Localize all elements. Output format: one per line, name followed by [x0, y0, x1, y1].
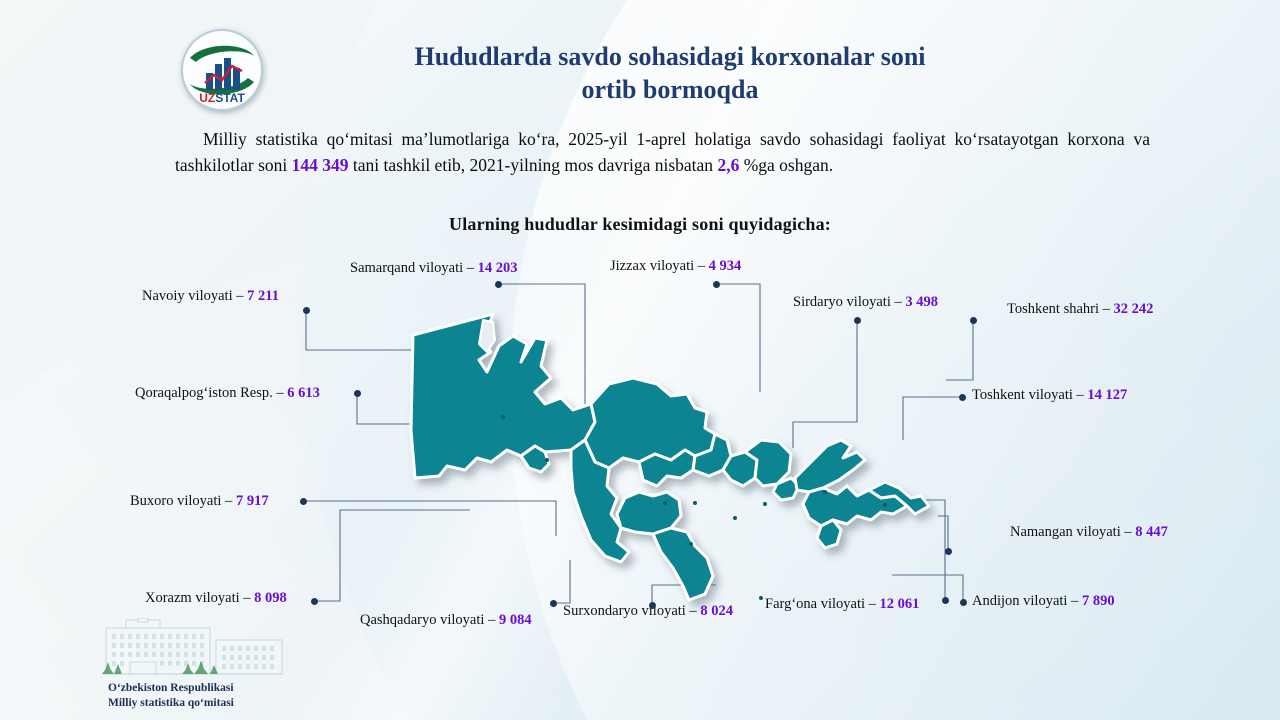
callout-sirdaryo-dot	[854, 317, 861, 324]
callout-sirdaryo-dash: –	[895, 294, 902, 310]
callout-samarqand-dash: –	[467, 260, 474, 276]
callout-navoiy-value: 7 211	[247, 288, 279, 304]
callout-toshkent-shahri-value: 32 242	[1114, 301, 1154, 317]
callout-toshkent-viloyati-dot	[959, 394, 966, 401]
callout-toshkent-viloyati: Toshkent viloyati – 14 127	[972, 387, 1127, 404]
statistics-committee-building-illustration	[96, 618, 326, 688]
callout-toshkent-shahri-dot	[970, 317, 977, 324]
infographic-canvas: UZSTAT Hududlarda savdo sohasidagi korxo…	[0, 0, 1280, 720]
callout-navoiy-label: Navoiy viloyati	[142, 288, 233, 304]
callout-qashqadaryo-label: Qashqadaryo viloyati	[360, 612, 484, 628]
callout-jizzax-label: Jizzax viloyati	[610, 258, 694, 274]
callout-andijon-value: 7 890	[1082, 593, 1115, 609]
callout-samarqand-value: 14 203	[478, 260, 518, 276]
callout-fargona-dash: –	[869, 596, 876, 612]
callout-jizzax-dash: –	[698, 258, 705, 274]
callout-xorazm-dot	[311, 598, 318, 605]
callout-toshkent-shahri-dash: –	[1103, 301, 1110, 317]
callout-fargona-value: 12 061	[880, 596, 920, 612]
callout-jizzax: Jizzax viloyati – 4 934	[610, 258, 741, 275]
callout-qashqadaryo-dot	[550, 600, 557, 607]
callout-jizzax-dot	[713, 281, 720, 288]
callout-qashqadaryo: Qashqadaryo viloyati – 9 084	[360, 612, 532, 629]
callout-andijon-dot	[960, 599, 967, 606]
region-qoraqalpogiston	[411, 314, 595, 478]
callout-xorazm-value: 8 098	[254, 590, 287, 606]
map-regions-group	[411, 314, 929, 600]
footer-organization-name: O‘zbekiston Respublikasi Milliy statisti…	[108, 681, 348, 711]
callout-qoraqalpogiston-dot	[354, 390, 361, 397]
callout-buxoro-value: 7 917	[236, 493, 269, 509]
footer-line-2: Milliy statistika qo‘mitasi	[108, 696, 348, 711]
callout-jizzax-value: 4 934	[709, 258, 742, 274]
callout-sirdaryo: Sirdaryo viloyati – 3 498	[793, 294, 938, 311]
callout-surxondaryo-dot	[649, 602, 656, 609]
callout-surxondaryo: Surxondaryo viloyati – 8 024	[563, 603, 733, 620]
callout-fargona: Farg‘ona viloyati – 12 061	[765, 596, 919, 613]
callout-toshkent-viloyati-label: Toshkent viloyati	[972, 387, 1073, 403]
callout-navoiy: Navoiy viloyati – 7 211	[142, 288, 279, 305]
callout-sirdaryo-value: 3 498	[905, 294, 938, 310]
callout-xorazm: Xorazm viloyati – 8 098	[145, 590, 287, 607]
callout-buxoro-dash: –	[225, 493, 232, 509]
callout-sirdaryo-label: Sirdaryo viloyati	[793, 294, 891, 310]
callout-namangan-dot	[945, 548, 952, 555]
footer-line-1: O‘zbekiston Respublikasi	[108, 681, 348, 696]
callout-andijon: Andijon viloyati – 7 890	[972, 593, 1115, 610]
callout-toshkent-viloyati-value: 14 127	[1087, 387, 1127, 403]
callout-andijon-dash: –	[1071, 593, 1078, 609]
callout-xorazm-dash: –	[243, 590, 250, 606]
callout-qashqadaryo-value: 9 084	[499, 612, 532, 628]
uzbekistan-region-map	[395, 300, 975, 630]
callout-samarqand-label: Samarqand viloyati	[350, 260, 463, 276]
callout-namangan: Namangan viloyati – 8 447	[1010, 524, 1168, 541]
region-namangan	[795, 440, 865, 492]
callout-toshkent-shahri: Toshkent shahri – 32 242	[1007, 301, 1153, 318]
callout-surxondaryo-label: Surxondaryo viloyati	[563, 603, 686, 619]
callout-samarqand: Samarqand viloyati – 14 203	[350, 260, 518, 277]
callout-navoiy-dot	[303, 307, 310, 314]
callout-surxondaryo-dash: –	[689, 603, 696, 619]
callout-qoraqalpogiston-value: 6 613	[287, 385, 320, 401]
callout-buxoro-dot	[300, 498, 307, 505]
callout-buxoro-label: Buxoro viloyati	[130, 493, 221, 509]
callout-navoiy-dash: –	[236, 288, 243, 304]
callout-qoraqalpogiston: Qoraqalpog‘iston Resp. – 6 613	[135, 385, 320, 402]
callout-xorazm-label: Xorazm viloyati	[145, 590, 240, 606]
callout-samarqand-dot	[495, 281, 502, 288]
callout-qoraqalpogiston-label: Qoraqalpog‘iston Resp.	[135, 385, 273, 401]
callout-buxoro: Buxoro viloyati – 7 917	[130, 493, 269, 510]
callout-qoraqalpogiston-dash: –	[276, 385, 283, 401]
callout-fargona-label: Farg‘ona viloyati	[765, 596, 865, 612]
callout-andijon-label: Andijon viloyati	[972, 593, 1067, 609]
callout-toshkent-viloyati-dash: –	[1077, 387, 1084, 403]
callout-namangan-value: 8 447	[1135, 524, 1168, 540]
callout-toshkent-shahri-label: Toshkent shahri	[1007, 301, 1099, 317]
region-surxondaryo	[653, 528, 713, 600]
callout-namangan-dash: –	[1124, 524, 1131, 540]
region-aral-inset	[479, 320, 495, 352]
callout-surxondaryo-value: 8 024	[700, 603, 733, 619]
callout-fargona-dot	[942, 597, 949, 604]
callout-qashqadaryo-dash: –	[488, 612, 495, 628]
callout-namangan-label: Namangan viloyati	[1010, 524, 1121, 540]
